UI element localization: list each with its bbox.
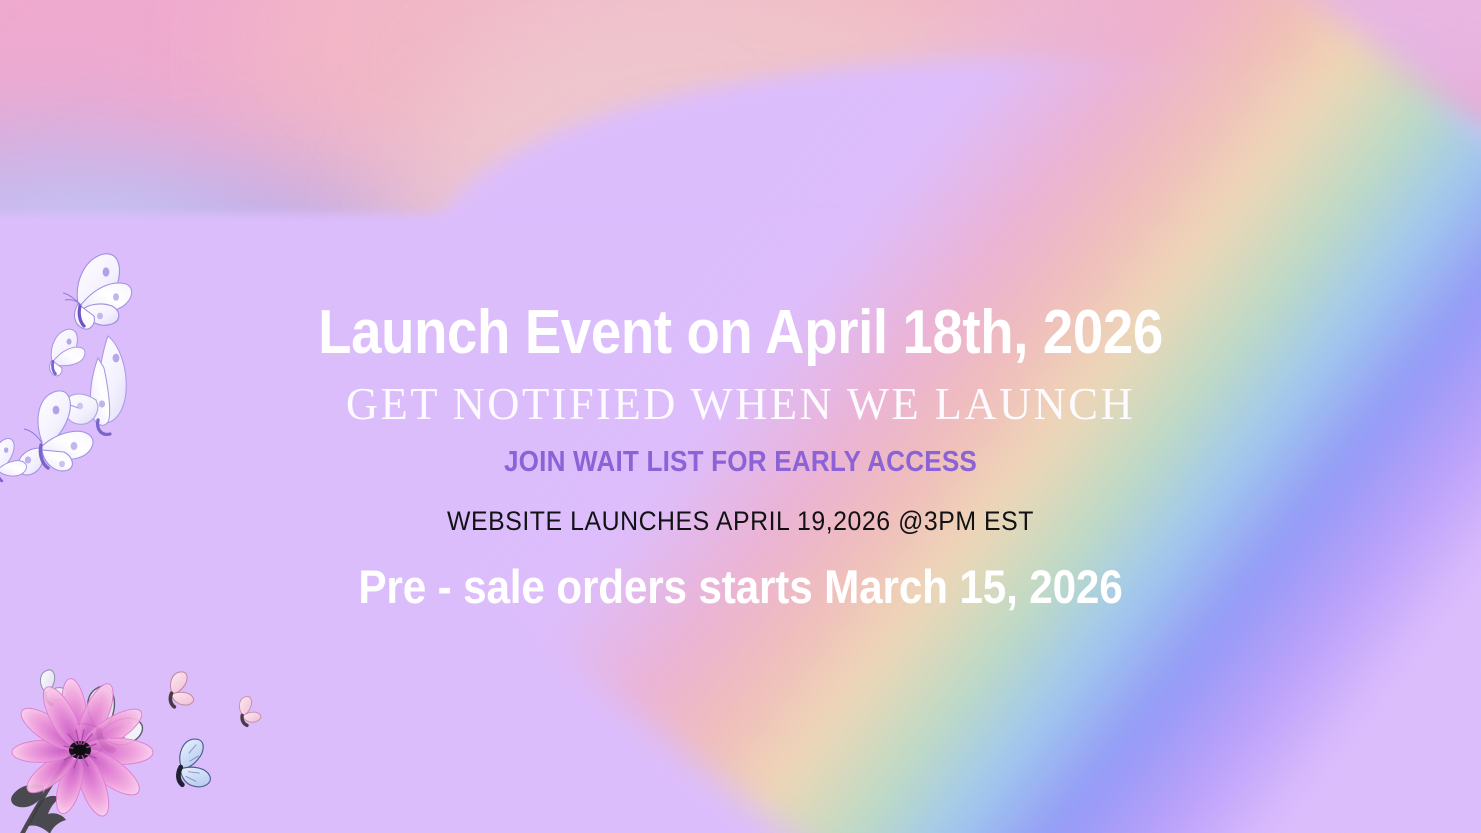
flower-center: [64, 730, 96, 768]
butterfly-icon: [173, 736, 219, 791]
butterfly-icon: [38, 667, 69, 706]
banner-lavender-base: [0, 214, 1481, 236]
butterfly-icon: [238, 695, 261, 726]
poster-copy: Launch Event on April 18th, 2026 GET NOT…: [0, 300, 1481, 614]
subtitle: GET NOTIFIED WHEN WE LAUNCH: [22, 379, 1459, 430]
waitlist-callout[interactable]: JOIN WAIT LIST FOR EARLY ACCESS: [74, 446, 1407, 479]
butterfly-icon: [167, 670, 197, 709]
presale-announcement: Pre - sale orders starts March 15, 2026: [74, 559, 1407, 614]
butterfly-cluster-bottom-icon: [18, 655, 268, 795]
page-title: Launch Event on April 18th, 2026: [89, 300, 1392, 365]
pink-flower-icon: [10, 690, 190, 833]
butterfly-icon: [69, 679, 147, 758]
launch-event-poster: Launch Event on April 18th, 2026 GET NOT…: [0, 0, 1481, 833]
gradient-banner: [0, 0, 1481, 236]
launch-time-text: WEBSITE LAUNCHES APRIL 19,2026 @3PM EST: [59, 506, 1422, 537]
